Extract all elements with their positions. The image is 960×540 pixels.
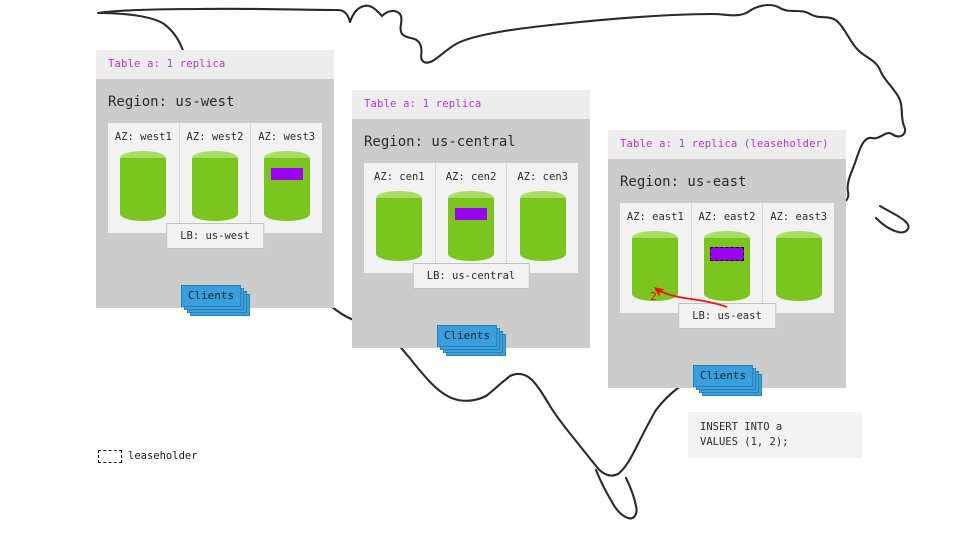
az-label-cen1: AZ: cen1 — [374, 172, 425, 183]
region-panel-us-east: Table a: 1 replica (leaseholder) Region:… — [608, 130, 846, 388]
az-label-west1: AZ: west1 — [115, 132, 172, 143]
db-node-cen2[interactable] — [448, 191, 494, 261]
cylinder-bottom — [376, 247, 422, 261]
replica-bar-west3 — [271, 168, 303, 180]
az-row-us-central: AZ: cen1 AZ: cen2 — [364, 163, 578, 273]
az-group-us-central: AZ: cen1 AZ: cen2 — [364, 163, 578, 273]
db-node-west2[interactable] — [192, 151, 238, 221]
region-header-us-central: Table a: 1 replica — [352, 90, 590, 119]
db-node-east2[interactable] — [704, 231, 750, 301]
region-title-us-central: Region: us-central — [352, 119, 590, 163]
cylinder-bottom — [448, 247, 494, 261]
cylinder-side — [376, 198, 422, 254]
clients-stack-us-east[interactable]: Clients — [693, 365, 761, 395]
az-row-us-west: AZ: west1 AZ: west2 — [108, 123, 322, 233]
az-cell-west2[interactable]: AZ: west2 — [180, 123, 252, 233]
clients-stack-us-west[interactable]: Clients — [181, 285, 249, 315]
az-label-east3: AZ: east3 — [770, 212, 827, 223]
az-label-cen3: AZ: cen3 — [517, 172, 568, 183]
region-header-us-west: Table a: 1 replica — [96, 50, 334, 79]
az-group-us-west: AZ: west1 AZ: west2 — [108, 123, 322, 233]
region-body-us-west: Region: us-west AZ: west1 AZ: west2 — [96, 79, 334, 308]
cylinder-side — [120, 158, 166, 214]
load-balancer-us-west[interactable]: LB: us-west — [166, 223, 264, 250]
dashed-rectangle-icon — [98, 450, 122, 463]
replica-bar-cen2 — [455, 208, 487, 220]
cylinder-bottom — [776, 287, 822, 301]
az-cell-west3[interactable]: AZ: west3 — [251, 123, 322, 233]
az-label-west2: AZ: west2 — [187, 132, 244, 143]
diagram-canvas: Table a: 1 replica Region: us-west AZ: w… — [0, 0, 960, 540]
legend-label: leaseholder — [128, 451, 198, 462]
cylinder-bottom — [192, 207, 238, 221]
cylinder-side — [632, 238, 678, 294]
clients-button-us-east[interactable]: Clients — [693, 365, 753, 387]
az-cell-east2[interactable]: AZ: east2 — [692, 203, 764, 313]
az-cell-cen2[interactable]: AZ: cen2 — [436, 163, 508, 273]
cylinder-side — [192, 158, 238, 214]
region-body-us-east: Region: us-east AZ: east1 AZ: east2 — [608, 159, 846, 388]
region-panel-us-central: Table a: 1 replica Region: us-central AZ… — [352, 90, 590, 348]
db-node-west1[interactable] — [120, 151, 166, 221]
db-node-cen1[interactable] — [376, 191, 422, 261]
leaseholder-replica-bar-east2 — [710, 247, 744, 261]
cylinder-side — [520, 198, 566, 254]
db-node-west3[interactable] — [264, 151, 310, 221]
az-label-east2: AZ: east2 — [699, 212, 756, 223]
az-label-east1: AZ: east1 — [627, 212, 684, 223]
az-label-west3: AZ: west3 — [258, 132, 315, 143]
az-cell-west1[interactable]: AZ: west1 — [108, 123, 180, 233]
cylinder-side — [264, 158, 310, 214]
clients-stack-us-central[interactable]: Clients — [437, 325, 505, 355]
region-body-us-central: Region: us-central AZ: cen1 AZ: cen2 — [352, 119, 590, 348]
cylinder-side — [448, 198, 494, 254]
clients-button-us-west[interactable]: Clients — [181, 285, 241, 307]
region-title-us-west: Region: us-west — [96, 79, 334, 123]
cylinder-side — [776, 238, 822, 294]
cylinder-bottom — [264, 207, 310, 221]
sql-statement-note: INSERT INTO a VALUES (1, 2); — [688, 412, 862, 458]
az-cell-cen3[interactable]: AZ: cen3 — [507, 163, 578, 273]
load-balancer-us-east[interactable]: LB: us-east — [678, 303, 776, 330]
region-header-us-east: Table a: 1 replica (leaseholder) — [608, 130, 846, 159]
cylinder-bottom — [520, 247, 566, 261]
db-node-east3[interactable] — [776, 231, 822, 301]
annotation-step-label: 2 — [650, 291, 657, 302]
cylinder-bottom — [704, 287, 750, 301]
az-cell-cen1[interactable]: AZ: cen1 — [364, 163, 436, 273]
region-title-us-east: Region: us-east — [608, 159, 846, 203]
az-label-cen2: AZ: cen2 — [446, 172, 497, 183]
region-panel-us-west: Table a: 1 replica Region: us-west AZ: w… — [96, 50, 334, 308]
az-cell-east3[interactable]: AZ: east3 — [763, 203, 834, 313]
cylinder-bottom — [120, 207, 166, 221]
load-balancer-us-central[interactable]: LB: us-central — [413, 263, 530, 290]
clients-button-us-central[interactable]: Clients — [437, 325, 497, 347]
legend-leaseholder: leaseholder — [98, 450, 198, 463]
db-node-cen3[interactable] — [520, 191, 566, 261]
